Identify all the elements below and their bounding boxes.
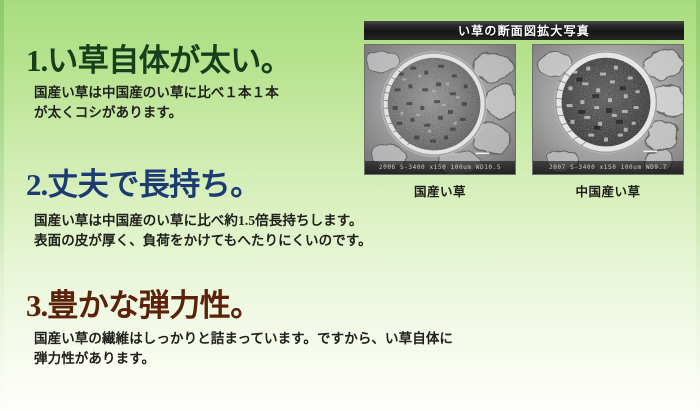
feature-section-1: 1.い草自体が太い。 国産い草は中国産のい草に比べ１本１本 が太くコシがあります… [26, 44, 291, 122]
feature-3-body-line-2: 弾力性があります。 [34, 349, 453, 368]
feature-2-headline-text: 丈夫で長持ち。 [47, 167, 261, 202]
domestic-igusa-label: 国産い草 [364, 181, 516, 200]
right-edge-accent [696, 0, 700, 411]
feature-section-2: 2.丈夫で長持ち。 国産い草は中国産のい草に比べ約1.5倍長持ちします。 表面の… [26, 168, 372, 250]
feature-1-headline: 1.い草自体が太い。 [26, 44, 291, 77]
micrograph-row: 2006 S-3400 x150 100um WD10.5 国産い草 [364, 44, 684, 200]
micrograph-cell-chinese: 2007 S-3400 x150 100um WD9.7 中国産い草 [532, 44, 684, 200]
chinese-micrograph-scalebar: 2007 S-3400 x150 100um WD9.7 [533, 161, 683, 174]
feature-2-body: 国産い草は中国産のい草に比べ約1.5倍長持ちします。 表面の皮が厚く、負荷をかけ… [34, 211, 372, 249]
feature-2-headline: 2.丈夫で長持ち。 [26, 168, 372, 201]
feature-3-body-line-1: 国産い草の繊維はしっかりと詰まっています。ですから、い草自体に [34, 329, 453, 348]
micrograph-cell-domestic: 2006 S-3400 x150 100um WD10.5 国産い草 [364, 44, 516, 200]
domestic-igusa-cross-section-image: 2006 S-3400 x150 100um WD10.5 [364, 44, 516, 175]
feature-1-headline-text: い草自体が太い。 [47, 43, 291, 78]
feature-3-headline: 3.豊かな弾力性。 [26, 289, 453, 322]
micrograph-panel-caption: い草の断面図拡大写真 [364, 21, 684, 40]
feature-section-3: 3.豊かな弾力性。 国産い草の繊維はしっかりと詰まっています。ですから、い草自体… [26, 289, 453, 368]
feature-3-headline-text: 豊かな弾力性。 [47, 288, 261, 323]
text-column: 1.い草自体が太い。 国産い草は中国産のい草に比べ１本１本 が太くコシがあります… [0, 0, 368, 411]
chinese-igusa-cross-section-image: 2007 S-3400 x150 100um WD9.7 [532, 44, 684, 175]
feature-1-body: 国産い草は中国産のい草に比べ１本１本 が太くコシがあります。 [34, 83, 291, 121]
feature-1-body-line-2: が太くコシがあります。 [34, 103, 291, 122]
feature-2-number: 2. [26, 167, 47, 202]
feature-3-number: 3. [26, 288, 47, 323]
feature-1-body-line-1: 国産い草は中国産のい草に比べ１本１本 [34, 83, 291, 102]
feature-3-body: 国産い草の繊維はしっかりと詰まっています。ですから、い草自体に 弾力性があります… [34, 329, 453, 367]
feature-2-body-line-1: 国産い草は中国産のい草に比べ約1.5倍長持ちします。 [34, 211, 372, 230]
feature-2-body-line-2: 表面の皮が厚く、負荷をかけてもへたりにくいのです。 [34, 231, 372, 250]
chinese-igusa-label: 中国産い草 [532, 181, 684, 200]
micrograph-panel: い草の断面図拡大写真 [364, 21, 684, 200]
feature-1-number: 1. [26, 43, 47, 78]
domestic-micrograph-scalebar: 2006 S-3400 x150 100um WD10.5 [365, 161, 515, 174]
igusa-comparison-infographic: 1.い草自体が太い。 国産い草は中国産のい草に比べ１本１本 が太くコシがあります… [0, 0, 700, 411]
